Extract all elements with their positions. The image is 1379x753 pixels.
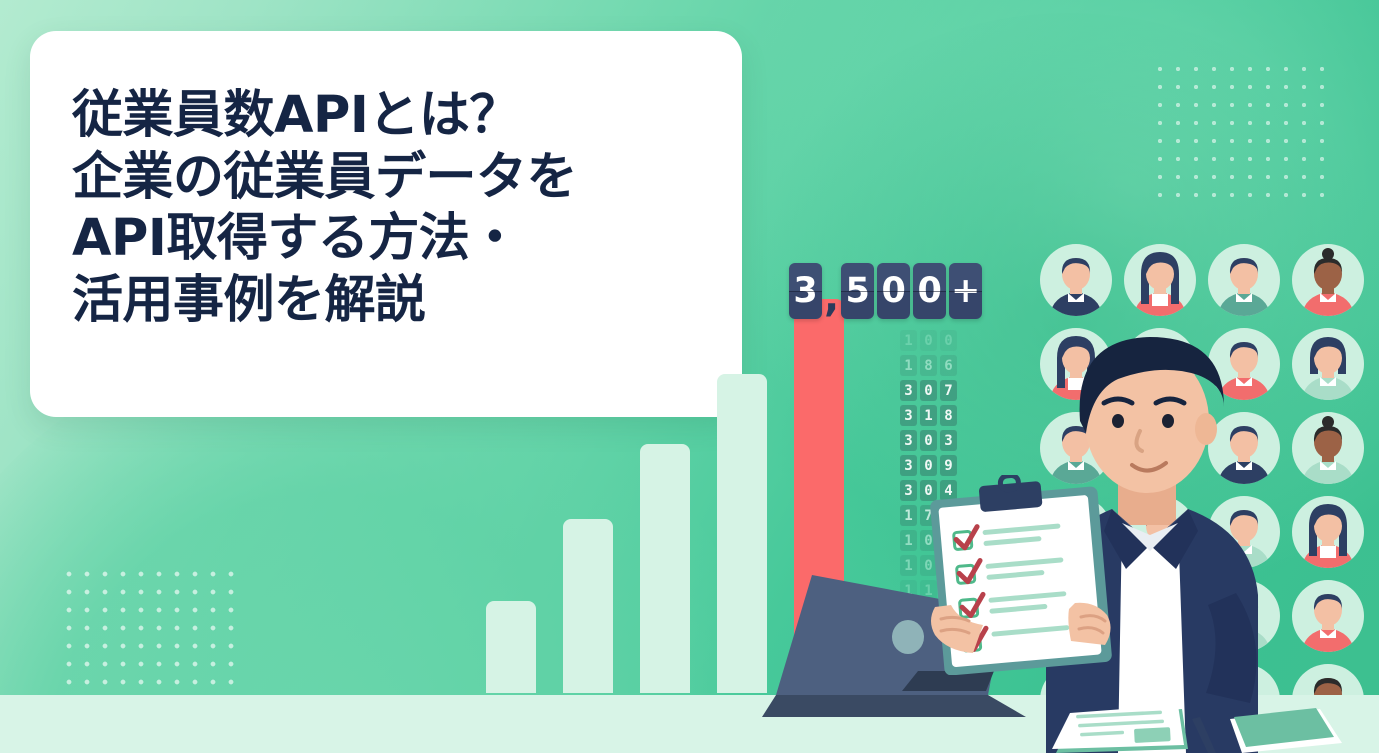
avatar-3 — [1292, 244, 1364, 316]
data-cell: 0 — [920, 430, 937, 451]
counter-digit-3: 0 — [913, 263, 946, 319]
data-cell: 8 — [920, 355, 937, 376]
data-cell: 3 — [900, 405, 917, 426]
data-cell: 0 — [920, 380, 937, 401]
data-row: 100 — [900, 330, 957, 351]
data-cell: 1 — [900, 355, 917, 376]
data-cell: 3 — [900, 480, 917, 501]
data-cell: 3 — [900, 380, 917, 401]
avatar-11 — [1292, 412, 1364, 484]
data-cell: 7 — [940, 380, 957, 401]
bar-1 — [486, 601, 536, 693]
data-cell: 6 — [940, 355, 957, 376]
counter-digit-0: 3 — [789, 263, 822, 319]
data-cell: 0 — [940, 330, 957, 351]
data-cell: 1 — [900, 505, 917, 526]
data-cell: 1 — [920, 405, 937, 426]
avatar-19 — [1292, 580, 1364, 652]
data-cell: 1 — [900, 530, 917, 551]
dot-pattern-bottom-left — [56, 561, 242, 697]
data-cell: 3 — [900, 430, 917, 451]
checklist-clipboard — [925, 475, 1125, 675]
bar-2 — [563, 519, 613, 693]
data-cell: 3 — [900, 455, 917, 476]
data-cell: 8 — [940, 405, 957, 426]
bar-3 — [640, 444, 690, 693]
data-cell: 0 — [920, 455, 937, 476]
counter-digit-2: 0 — [877, 263, 910, 319]
counter-digit-1: 5 — [841, 263, 874, 319]
document-sheet — [1052, 705, 1188, 753]
dot-pattern-top-right — [1147, 56, 1333, 206]
avatar-7 — [1292, 328, 1364, 400]
data-cell: 1 — [900, 330, 917, 351]
data-cell: 0 — [920, 330, 937, 351]
employee-count-counter: 3,500+ — [789, 263, 982, 319]
data-row: 303 — [900, 430, 957, 451]
pen — [1192, 717, 1216, 753]
data-row: 186 — [900, 355, 957, 376]
hero-banner: 従業員数APIとは？ 企業の従業員データを API取得する方法・ 活用事例を解説… — [0, 0, 1379, 753]
data-cell: 9 — [940, 455, 957, 476]
data-row: 307 — [900, 380, 957, 401]
counter-separator: , — [824, 284, 839, 312]
data-cell: 3 — [940, 430, 957, 451]
data-row: 318 — [900, 405, 957, 426]
counter-digit-4: + — [949, 263, 982, 319]
data-row: 309 — [900, 455, 957, 476]
desk-items — [1030, 691, 1379, 753]
avatar-15 — [1292, 496, 1364, 568]
